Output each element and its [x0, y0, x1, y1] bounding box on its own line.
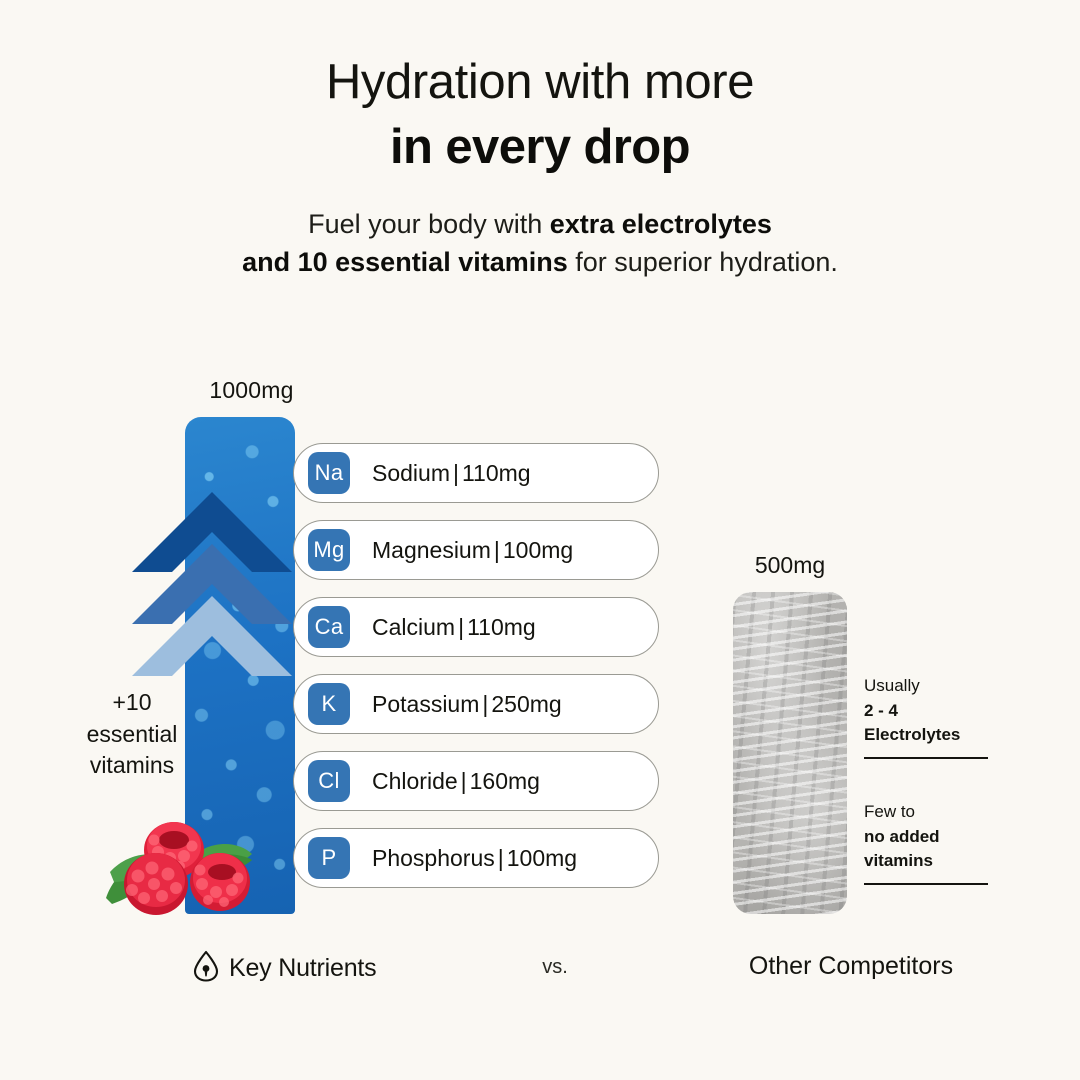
element-badge-ca: Ca [308, 606, 350, 648]
separator: | [479, 691, 491, 717]
vitamins-note-line-1: +10 [112, 689, 151, 715]
product-amount-label: 1000mg [199, 377, 304, 404]
competitor-note-2-line-1: Few to [864, 802, 915, 821]
page-title: Hydration with more in every drop [0, 58, 1080, 172]
separator: | [495, 845, 507, 871]
electrolyte-amount: 250mg [491, 691, 561, 717]
competitor-note-1-line-3: Electrolytes [864, 725, 960, 744]
raspberries-image [96, 806, 266, 922]
electrolyte-name: Phosphorus [372, 845, 495, 871]
water-drop-keyhole-icon [192, 950, 220, 987]
separator: | [458, 768, 470, 794]
electrolyte-row-calcium[interactable]: Ca Calcium|110mg [293, 597, 659, 657]
electrolyte-name: Sodium [372, 460, 450, 486]
electrolyte-name: Chloride [372, 768, 458, 794]
separator: | [450, 460, 462, 486]
electrolyte-row-potassium[interactable]: K Potassium|250mg [293, 674, 659, 734]
electrolyte-row-phosphorus[interactable]: P Phosphorus|100mg [293, 828, 659, 888]
subhead-bold-1: extra electrolytes [550, 209, 772, 239]
subhead-bold-2: and 10 essential vitamins [242, 247, 568, 277]
subhead-part-1: Fuel your body with [308, 209, 550, 239]
competitor-label: Other Competitors [690, 952, 1012, 981]
electrolyte-label-calcium: Calcium|110mg [372, 614, 536, 641]
separator: | [455, 614, 467, 640]
electrolyte-amount: 100mg [503, 537, 573, 563]
element-badge-p: P [308, 837, 350, 879]
electrolyte-name: Potassium [372, 691, 479, 717]
competitor-note-2-line-2: no added [864, 827, 940, 846]
element-badge-cl: Cl [308, 760, 350, 802]
headline-line-1: Hydration with more [0, 58, 1080, 107]
competitor-note-1-line-2: 2 - 4 [864, 701, 898, 720]
electrolyte-amount: 160mg [470, 768, 540, 794]
element-badge-na: Na [308, 452, 350, 494]
competitor-note-vitamins: Few to no added vitamins [864, 800, 988, 885]
element-badge-k: K [308, 683, 350, 725]
electrolyte-label-magnesium: Magnesium|100mg [372, 537, 573, 564]
competitor-note-2-line-3: vitamins [864, 851, 933, 870]
electrolyte-row-sodium[interactable]: Na Sodium|110mg [293, 443, 659, 503]
electrolyte-row-chloride[interactable]: Cl Chloride|160mg [293, 751, 659, 811]
brand-name: Key Nutrients [229, 954, 376, 983]
electrolyte-amount: 110mg [467, 614, 536, 640]
electrolyte-amount: 100mg [507, 845, 577, 871]
electrolyte-amount: 110mg [462, 460, 531, 486]
electrolyte-label-potassium: Potassium|250mg [372, 691, 562, 718]
electrolyte-label-chloride: Chloride|160mg [372, 768, 540, 795]
electrolyte-label-phosphorus: Phosphorus|100mg [372, 845, 577, 872]
competitor-note-1-line-1: Usually [864, 676, 920, 695]
separator: | [491, 537, 503, 563]
brand-logo: Key Nutrients [192, 950, 376, 987]
competitor-amount-label: 500mg [731, 552, 849, 579]
vitamins-note-line-2: essential [87, 721, 178, 747]
element-badge-mg: Mg [308, 529, 350, 571]
competitor-bar [733, 592, 847, 914]
vitamins-note: +10 essential vitamins [62, 687, 202, 782]
subheadline: Fuel your body with extra electrolytes a… [0, 205, 1080, 282]
electrolyte-row-magnesium[interactable]: Mg Magnesium|100mg [293, 520, 659, 580]
divider [864, 883, 988, 885]
vitamins-note-line-3: vitamins [90, 752, 174, 778]
competitor-note-electrolytes: Usually 2 - 4 Electrolytes [864, 674, 988, 759]
electrolyte-label-sodium: Sodium|110mg [372, 460, 531, 487]
infographic-canvas: Hydration with more in every drop Fuel y… [0, 0, 1080, 1080]
subhead-part-3: for superior hydration. [568, 247, 838, 277]
versus-label: vs. [505, 956, 605, 979]
divider [864, 757, 988, 759]
electrolyte-name: Magnesium [372, 537, 491, 563]
headline-line-2: in every drop [0, 123, 1080, 172]
electrolyte-name: Calcium [372, 614, 455, 640]
